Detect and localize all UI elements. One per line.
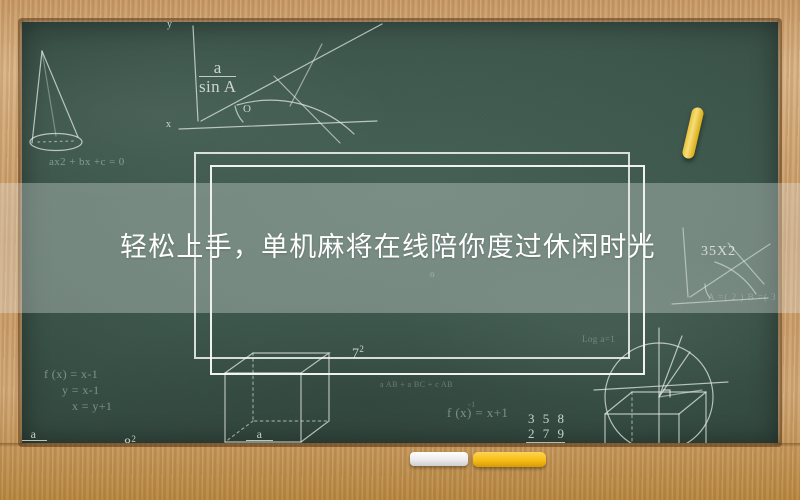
cone-axis <box>42 51 56 136</box>
cone-base-dashes <box>38 141 74 142</box>
angle-ray <box>201 24 382 121</box>
angle-cross-1 <box>274 76 340 143</box>
angle2-y <box>683 228 688 297</box>
angle-cross-2 <box>290 44 322 106</box>
cube2-top-left <box>605 392 632 414</box>
decorative-rectangle-front <box>210 165 645 375</box>
cube-hidden-diag <box>225 421 253 442</box>
angle2-cross <box>728 243 764 284</box>
angle2-x <box>672 298 768 304</box>
cone-right-edge <box>42 51 78 137</box>
angle-diagram-right <box>672 228 770 304</box>
angle-small-arc <box>235 106 243 122</box>
cube2-front-face <box>630 418 705 443</box>
pie-slice-edge-3 <box>659 390 702 397</box>
angle2-ray <box>690 244 770 297</box>
pie-slice-edge-1 <box>659 336 682 397</box>
chalk-tray <box>0 443 800 500</box>
angle-arc-outer <box>237 100 354 134</box>
chalkboard-banner: a sin A ax2 + bx +c = 0 y x O o f (x) = … <box>0 0 800 500</box>
pie-horizontal-axis <box>594 382 728 390</box>
cone-left-edge <box>32 51 42 143</box>
yellow-chalk-icon <box>473 452 546 467</box>
axis-y-line <box>193 26 198 121</box>
board-eraser-icon <box>410 452 468 466</box>
cube2-top-right <box>679 392 706 414</box>
tray-lip <box>0 443 800 447</box>
banner-title: 轻松上手，单机麻将在线陪你度过休闲时光 <box>120 231 656 263</box>
cube-front-face <box>225 373 301 442</box>
